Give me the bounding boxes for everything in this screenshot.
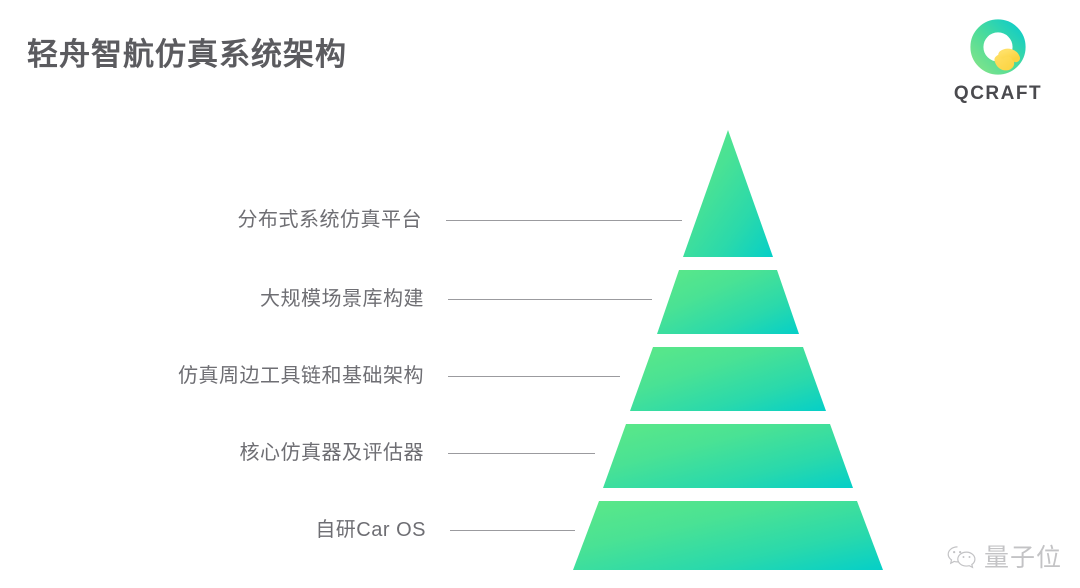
pyramid-chart (560, 120, 900, 580)
leader-line (448, 376, 620, 377)
pyramid-label-text: 大规模场景库构建 (260, 286, 424, 312)
leader-line (448, 299, 652, 300)
pyramid-label-row[interactable]: 仿真周边工具链和基础架构 (120, 363, 620, 389)
qcraft-logo-icon (967, 16, 1029, 78)
pyramid-label-row[interactable]: 分布式系统仿真平台 (120, 207, 682, 233)
pyramid-label-row[interactable]: 核心仿真器及评估器 (120, 440, 595, 466)
watermark: 量子位 (947, 544, 1062, 570)
wechat-icon (947, 544, 977, 570)
pyramid-label-row[interactable]: 自研Car OS (120, 517, 575, 543)
pyramid-level-5[interactable] (573, 501, 883, 570)
pyramid-label-text: 仿真周边工具链和基础架构 (178, 363, 424, 389)
leader-line (450, 530, 575, 531)
leader-line (448, 453, 595, 454)
pyramid-label-row[interactable]: 大规模场景库构建 (120, 286, 652, 312)
pyramid-level-1[interactable] (683, 130, 773, 257)
brand-logo: QCRAFT (938, 16, 1058, 103)
slide-canvas: 轻舟智航仿真系统架构 (0, 0, 1080, 588)
brand-wordmark: QCRAFT (954, 84, 1042, 103)
pyramid-label-text: 核心仿真器及评估器 (240, 440, 425, 466)
pyramid-level-4[interactable] (603, 424, 853, 488)
pyramid-level-3[interactable] (630, 347, 826, 411)
pyramid-level-2[interactable] (657, 270, 799, 334)
page-title: 轻舟智航仿真系统架构 (27, 36, 347, 73)
leader-line (446, 220, 682, 221)
pyramid-label-text: 分布式系统仿真平台 (238, 207, 423, 233)
watermark-text: 量子位 (984, 545, 1062, 570)
pyramid-label-text: 自研Car OS (315, 517, 426, 543)
